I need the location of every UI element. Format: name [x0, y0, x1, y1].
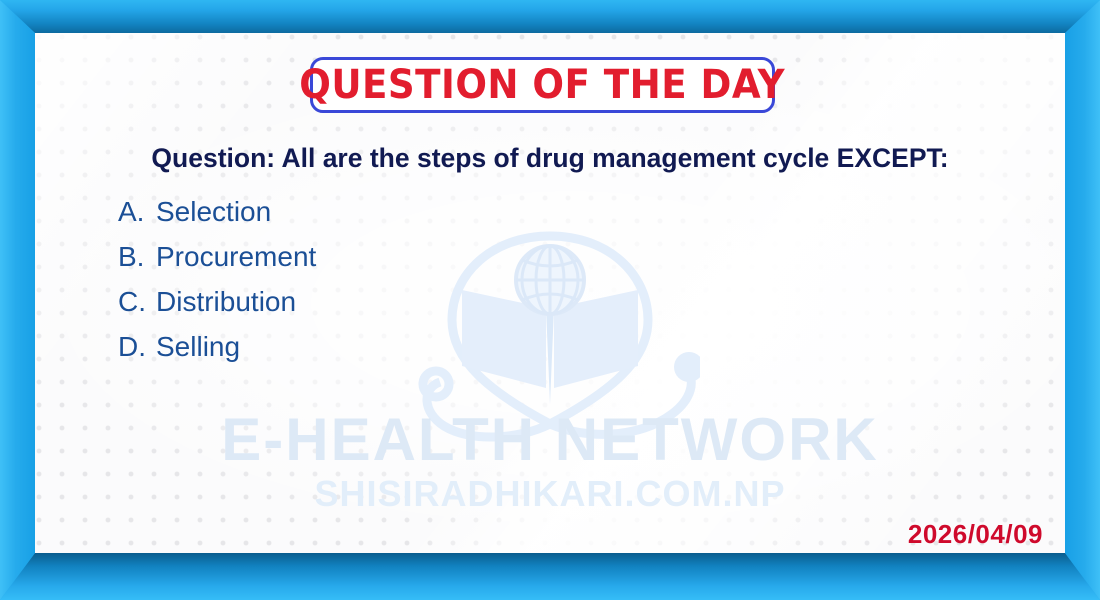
option-c-letter: C. [118, 286, 156, 318]
option-d-label: Selling [156, 331, 240, 363]
frame-bevel-bottom [0, 553, 1100, 600]
title-box: QUESTION OF THE DAY [310, 57, 775, 113]
option-a-label: Selection [156, 196, 271, 228]
page-title: QUESTION OF THE DAY [300, 65, 786, 105]
option-c-label: Distribution [156, 286, 296, 318]
option-d-letter: D. [118, 331, 156, 363]
options-list: A. Selection B. Procurement C. Distribut… [118, 196, 316, 376]
frame-bevel-left [0, 0, 35, 600]
option-c[interactable]: C. Distribution [118, 286, 316, 331]
content-panel: E-HEALTH NETWORK SHISIRADHIKARI.COM.NP Q… [35, 33, 1065, 553]
option-b-letter: B. [118, 241, 156, 273]
question-text: Question: All are the steps of drug mana… [35, 143, 1065, 174]
option-a[interactable]: A. Selection [118, 196, 316, 241]
option-b[interactable]: B. Procurement [118, 241, 316, 286]
frame-bevel-right [1065, 0, 1100, 600]
date-stamp: 2026/04/09 [908, 519, 1043, 550]
question-of-the-day-card: E-HEALTH NETWORK SHISIRADHIKARI.COM.NP Q… [0, 0, 1100, 600]
option-a-letter: A. [118, 196, 156, 228]
option-d[interactable]: D. Selling [118, 331, 316, 376]
option-b-label: Procurement [156, 241, 316, 273]
frame-bevel-top [0, 0, 1100, 33]
